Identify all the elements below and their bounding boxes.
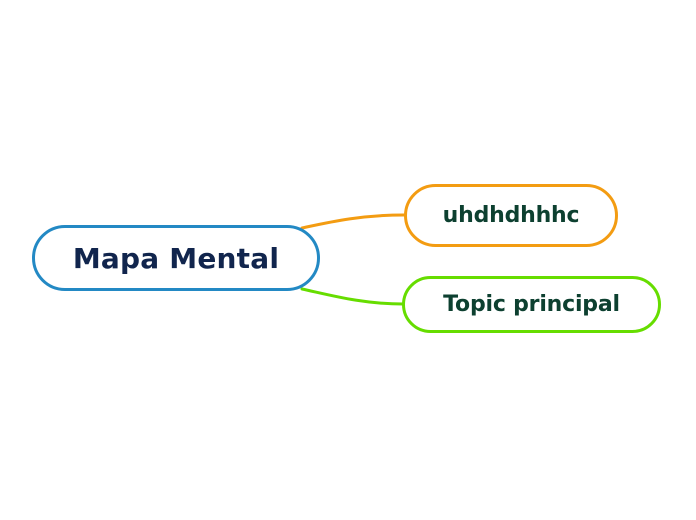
child-node-1-label: uhdhdhhhc [443, 203, 580, 228]
mind-map-canvas: Mapa Mental uhdhdhhhc Topic principal [0, 0, 696, 520]
connector-root-to-child-2 [302, 289, 403, 304]
mind-map-child-node-2[interactable]: Topic principal [402, 276, 661, 333]
root-node-label: Mapa Mental [73, 242, 279, 275]
mind-map-child-node-1[interactable]: uhdhdhhhc [404, 184, 618, 247]
connector-root-to-child-1 [302, 215, 404, 228]
mind-map-root-node[interactable]: Mapa Mental [32, 225, 320, 291]
child-node-2-label: Topic principal [443, 292, 620, 317]
